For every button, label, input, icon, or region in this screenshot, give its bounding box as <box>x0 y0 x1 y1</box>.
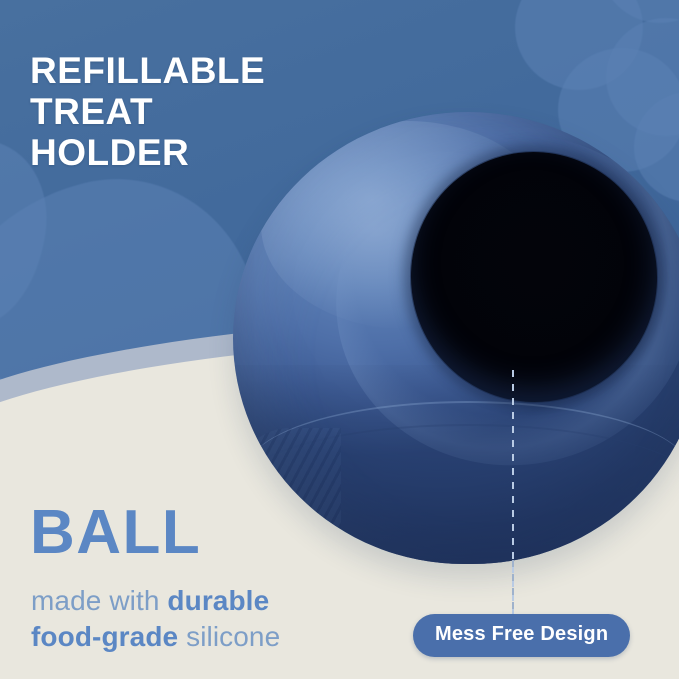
headline-refillable-treat-holder: REFILLABLE TREAT HOLDER <box>30 50 265 173</box>
product-ball-image <box>233 112 679 564</box>
product-poster: REFILLABLE TREAT HOLDER BALL made with d… <box>0 0 679 679</box>
subtitle-line-2: food-grade silicone <box>31 621 280 652</box>
subtitle-emphasis: food-grade <box>31 621 178 652</box>
ball-grip-texture <box>238 428 341 527</box>
subtitle-emphasis: durable <box>167 585 269 616</box>
mess-free-design-badge: Mess Free Design <box>413 614 630 657</box>
callout-dashed-line <box>512 560 514 618</box>
subtitle-line-1: made with durable <box>31 585 269 616</box>
subtitle-text: made with <box>31 585 167 616</box>
product-subtitle: made with durable food-grade silicone <box>31 583 280 655</box>
subtitle-text: silicone <box>178 621 280 652</box>
product-word-ball: BALL <box>30 502 201 564</box>
ball-body <box>233 112 679 564</box>
